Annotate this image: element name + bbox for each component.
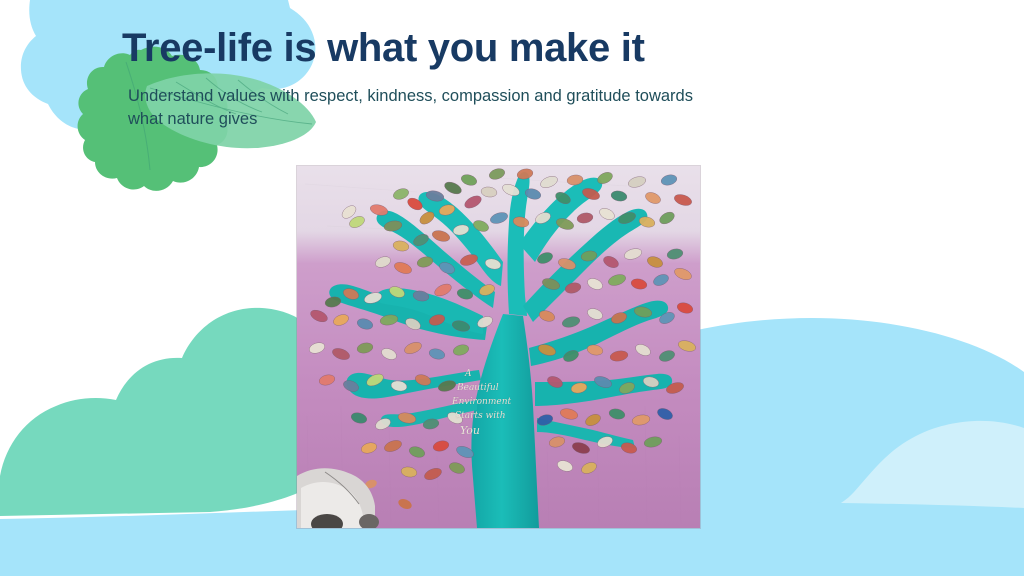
bottom-right-inner-blob xyxy=(738,421,1024,576)
page-title: Tree-life is what you make it xyxy=(122,26,782,71)
svg-text:Environment: Environment xyxy=(451,397,512,407)
mural-photo: A Beautiful Environment Starts with You xyxy=(297,166,700,528)
svg-text:A: A xyxy=(464,369,472,379)
svg-text:Starts with: Starts with xyxy=(455,411,506,421)
mural-illustration: A Beautiful Environment Starts with You xyxy=(297,166,700,528)
svg-text:You: You xyxy=(460,424,480,437)
svg-text:Beautiful: Beautiful xyxy=(456,383,499,393)
slide-canvas: Tree-life is what you make it Understand… xyxy=(0,0,1024,576)
title-block: Tree-life is what you make it Understand… xyxy=(122,26,782,132)
page-subtitle: Understand values with respect, kindness… xyxy=(128,85,728,132)
